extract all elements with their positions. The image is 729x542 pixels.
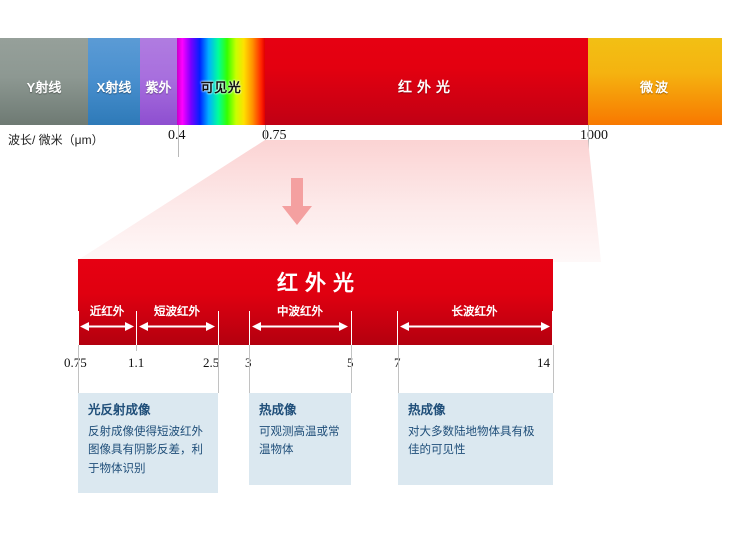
spectrum-segment-gamma: Y射线 bbox=[0, 38, 88, 125]
spectrum-segment-visible-label: 可见光 bbox=[201, 77, 242, 96]
ir-tick-label-0.75: 0.75 bbox=[64, 355, 87, 371]
spectrum-segment-xray: X射线 bbox=[88, 38, 140, 125]
spectrum-segment-microwave: 微波 bbox=[588, 38, 722, 125]
ir-tick-label-14: 14 bbox=[537, 355, 550, 371]
zoom-funnel bbox=[0, 140, 729, 262]
band-divider-14 bbox=[552, 311, 553, 345]
info-box-3-body: 对大多数陆地物体具有极佳的可见性 bbox=[408, 423, 544, 460]
down-arrow-shape bbox=[282, 178, 312, 225]
ir-tick-line-0.75 bbox=[78, 345, 79, 393]
infrared-detail-title: 红外光 bbox=[78, 267, 553, 297]
axis-tick-label-1000: 1000 bbox=[580, 128, 608, 144]
band-label-longwave-infrared: 长波红外 bbox=[397, 303, 552, 319]
axis-tick-line-0.4 bbox=[178, 125, 179, 157]
spectrum-segment-visible: 可见光 bbox=[177, 38, 265, 125]
info-box-2-title: 热成像 bbox=[259, 403, 342, 419]
ir-tick-line-14 bbox=[553, 345, 554, 393]
band-label-near-infrared: 近红外 bbox=[78, 303, 136, 319]
ir-tick-line-7 bbox=[398, 345, 399, 393]
band-divider-2.5 bbox=[218, 311, 219, 345]
funnel-shape bbox=[75, 140, 601, 262]
ir-tick-line-2.5 bbox=[218, 345, 219, 393]
band-arrow-midwave-infrared bbox=[252, 321, 348, 332]
infrared-detail-bar: 红外光 近红外 短波红外 中波红外 长波红外 bbox=[78, 259, 553, 345]
ir-tick-line-1.1 bbox=[136, 345, 137, 351]
info-box-1-title: 光反射成像 bbox=[88, 403, 209, 419]
band-arrow-near-infrared bbox=[80, 321, 134, 332]
info-box-reflective-imaging: 光反射成像 反射成像使得短波红外图像具有阴影反差，利于物体识别 bbox=[78, 393, 218, 493]
axis-tick-line-0.75 bbox=[265, 125, 266, 157]
wavelength-axis-caption: 波长/ 微米（μm） bbox=[8, 131, 104, 148]
spectrum-segment-gamma-label: Y射线 bbox=[27, 77, 62, 96]
axis-tick-label-0.4: 0.4 bbox=[168, 128, 186, 144]
ir-tick-line-5 bbox=[351, 345, 352, 393]
band-label-midwave-infrared: 中波红外 bbox=[249, 303, 351, 319]
band-divider-5 bbox=[351, 311, 352, 345]
spectrum-segment-ultraviolet: 紫外 bbox=[140, 38, 177, 125]
ir-tick-label-2.5: 2.5 bbox=[203, 355, 219, 371]
band-arrow-shortwave-infrared bbox=[139, 321, 215, 332]
ir-tick-line-3 bbox=[249, 345, 250, 393]
ir-tick-label-1.1: 1.1 bbox=[128, 355, 144, 371]
band-label-shortwave-infrared: 短波红外 bbox=[136, 303, 218, 319]
info-box-thermal-imaging-mwir: 热成像 可观测高温或常温物体 bbox=[249, 393, 351, 485]
spectrum-segment-ultraviolet-label: 紫外 bbox=[145, 77, 171, 96]
band-arrow-longwave-infrared bbox=[400, 321, 550, 332]
electromagnetic-spectrum-bar: Y射线 X射线 紫外 可见光 红外光 微波 bbox=[0, 38, 722, 125]
info-box-2-body: 可观测高温或常温物体 bbox=[259, 423, 342, 460]
spectrum-segment-microwave-label: 微波 bbox=[640, 77, 670, 96]
axis-tick-line-1000 bbox=[588, 125, 589, 157]
info-box-3-title: 热成像 bbox=[408, 403, 544, 419]
spectrum-segment-infrared: 红外光 bbox=[265, 38, 588, 125]
wavelength-axis: 波长/ 微米（μm） 0.4 0.75 1000 bbox=[0, 125, 729, 157]
spectrum-segment-infrared-label: 红外光 bbox=[398, 77, 455, 97]
spectrum-segment-xray-label: X射线 bbox=[97, 77, 132, 96]
down-arrow-icon bbox=[280, 178, 314, 226]
info-box-1-body: 反射成像使得短波红外图像具有阴影反差，利于物体识别 bbox=[88, 423, 209, 479]
info-box-thermal-imaging-lwir: 热成像 对大多数陆地物体具有极佳的可见性 bbox=[398, 393, 553, 485]
